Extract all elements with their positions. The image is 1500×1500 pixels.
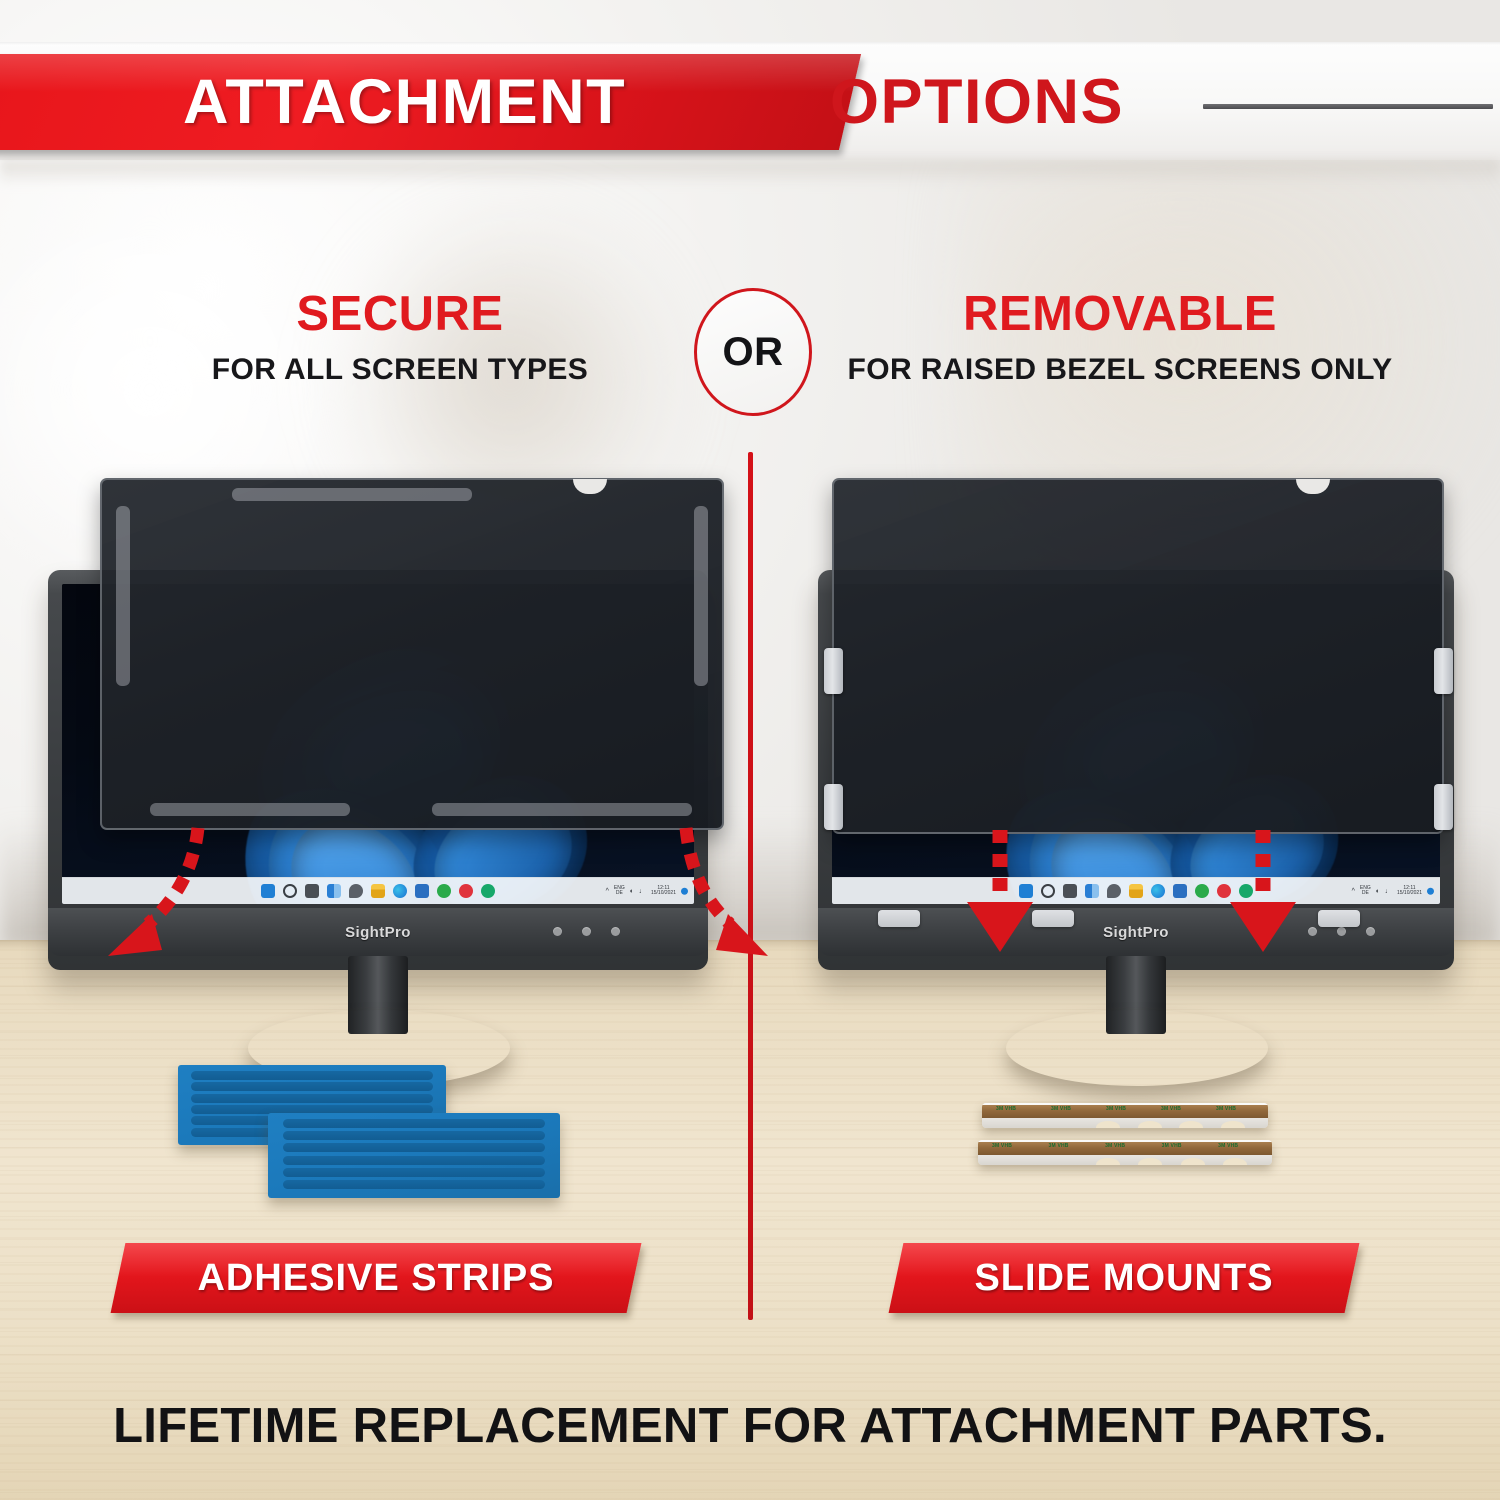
- adhesive-strip: [191, 1071, 432, 1080]
- file-explorer-icon[interactable]: [1129, 884, 1143, 898]
- tray-language-indicator-r[interactable]: ENG DE: [1360, 886, 1371, 897]
- mount-notch: [1138, 1158, 1162, 1165]
- mount-tape-label: 3M VHB: [1051, 1106, 1071, 1112]
- right-heading-title: REMOVABLE: [770, 290, 1470, 339]
- monitor-button-1-r[interactable]: [1308, 927, 1317, 936]
- mount-notch: [1223, 1158, 1247, 1165]
- filter-side-tab-right: [694, 506, 708, 686]
- green-app-icon[interactable]: [1195, 884, 1209, 898]
- header-title-attachment: ATTACHMENT: [183, 60, 823, 144]
- mount-notch: [1138, 1121, 1162, 1128]
- right-monitor-buttons[interactable]: [1308, 927, 1375, 936]
- right-banner-label: SLIDE MOUNTS: [896, 1243, 1352, 1313]
- slide-mount-strip-bottom[interactable]: 3M VHB3M VHB3M VHB3M VHB3M VHB: [978, 1140, 1272, 1165]
- mount-adhesive-tape: 3M VHB3M VHB3M VHB3M VHB3M VHB: [978, 1142, 1272, 1155]
- tray-notification-icon-r[interactable]: [1427, 888, 1434, 895]
- right-heading-block: REMOVABLE FOR RAISED BEZEL SCREENS ONLY: [770, 290, 1470, 385]
- adhesive-strip: [283, 1143, 546, 1152]
- adhesive-strip: [283, 1168, 546, 1177]
- left-banner-label: ADHESIVE STRIPS: [118, 1243, 634, 1313]
- store-icon[interactable]: [1173, 884, 1187, 898]
- filter-bottom-tab-left: [150, 803, 350, 816]
- slide-mount-clip-top-left[interactable]: [824, 648, 843, 694]
- task-view-icon[interactable]: [1063, 884, 1077, 898]
- mount-adhesive-tape: 3M VHB3M VHB3M VHB3M VHB3M VHB: [982, 1105, 1268, 1118]
- mount-tape-label: 3M VHB: [1105, 1143, 1125, 1149]
- left-privacy-filter-panel[interactable]: [100, 478, 724, 830]
- filter-webcam-notch: [573, 479, 607, 494]
- filter-bottom-tab-right: [432, 803, 692, 816]
- widgets-icon[interactable]: [327, 884, 341, 898]
- adhesive-strip: [191, 1082, 432, 1091]
- right-arrow-down-left: [955, 826, 1045, 956]
- mount-tape-label: 3M VHB: [1162, 1143, 1182, 1149]
- footer-text: LIFETIME REPLACEMENT FOR ATTACHMENT PART…: [0, 1398, 1500, 1454]
- adhesive-strip: [283, 1156, 546, 1165]
- left-heading-subtitle: FOR ALL SCREEN TYPES: [60, 355, 740, 385]
- slide-mount-clip-bottom-right[interactable]: [1434, 784, 1453, 830]
- mount-tape-label: 3M VHB: [1218, 1143, 1238, 1149]
- monitor-button-3-r[interactable]: [1366, 927, 1375, 936]
- mount-notch: [1096, 1158, 1120, 1165]
- task-view-icon[interactable]: [305, 884, 319, 898]
- infographic-canvas: ATTACHMENT OPTIONS SECURE FOR ALL SCREEN…: [0, 0, 1500, 1500]
- right-taskbar[interactable]: ^ ENG DE ◐ ♩ 12:11 15/10/2021: [832, 877, 1440, 904]
- green-app-icon[interactable]: [437, 884, 451, 898]
- mount-tape-label: 3M VHB: [1049, 1143, 1069, 1149]
- store-icon[interactable]: [415, 884, 429, 898]
- tray-network-icon-r[interactable]: ◐: [1376, 887, 1380, 894]
- left-heading-title: SECURE: [60, 290, 740, 339]
- teal-app-icon[interactable]: [481, 884, 495, 898]
- chat-icon[interactable]: [1107, 884, 1121, 898]
- left-arrow-down-left: [90, 820, 290, 980]
- header-rule: [1203, 104, 1493, 109]
- mount-notch: [1179, 1121, 1203, 1128]
- right-monitor-stand-base: [1006, 1010, 1268, 1086]
- filter-webcam-notch-r: [1296, 479, 1330, 494]
- monitor-button-1[interactable]: [553, 927, 562, 936]
- adhesive-strip: [283, 1180, 546, 1189]
- file-explorer-icon[interactable]: [371, 884, 385, 898]
- tray-volume-icon-r[interactable]: ♩: [1385, 887, 1392, 894]
- tray-chevron-icon-r[interactable]: ^: [1352, 887, 1355, 894]
- widgets-icon[interactable]: [1085, 884, 1099, 898]
- right-heading-subtitle: FOR RAISED BEZEL SCREENS ONLY: [770, 355, 1470, 385]
- right-system-tray[interactable]: ^ ENG DE ◐ ♩ 12:11 15/10/2021: [1352, 886, 1434, 897]
- header-bottom-shadow: [0, 160, 1500, 186]
- edge-icon[interactable]: [1151, 884, 1165, 898]
- monitor-button-2-r[interactable]: [1337, 927, 1346, 936]
- mount-notch: [1221, 1121, 1245, 1128]
- slide-mount-clip-chin-left[interactable]: [878, 910, 920, 927]
- header-title-options: OPTIONS: [830, 60, 1124, 144]
- mount-tape-label: 3M VHB: [992, 1143, 1012, 1149]
- mount-notch: [1181, 1158, 1205, 1165]
- slide-mount-clip-top-right[interactable]: [1434, 648, 1453, 694]
- header-top-shadow: [0, 42, 1500, 45]
- mount-tape-label: 3M VHB: [1216, 1106, 1236, 1112]
- left-taskbar-icons[interactable]: [261, 884, 495, 898]
- chat-icon[interactable]: [349, 884, 363, 898]
- red-app-icon[interactable]: [459, 884, 473, 898]
- edge-icon[interactable]: [393, 884, 407, 898]
- adhesive-strip-sheet-front[interactable]: [268, 1113, 560, 1198]
- slide-mount-clip-chin-right[interactable]: [1318, 910, 1360, 927]
- slide-mount-clip-bottom-left[interactable]: [824, 784, 843, 830]
- tray-layout-r: DE: [1362, 890, 1369, 896]
- mount-tape-label: 3M VHB: [1106, 1106, 1126, 1112]
- filter-top-tab: [232, 488, 472, 501]
- tray-date-r: 15/10/2021: [1397, 890, 1422, 896]
- tray-clock-r[interactable]: 12:11 15/10/2021: [1397, 886, 1422, 897]
- left-arrow-down-right: [590, 820, 790, 980]
- right-arrow-down-right: [1218, 826, 1308, 956]
- mount-tape-label: 3M VHB: [996, 1106, 1016, 1112]
- slide-mount-strip-top[interactable]: 3M VHB3M VHB3M VHB3M VHB3M VHB: [982, 1103, 1268, 1128]
- mount-notch: [1096, 1121, 1120, 1128]
- left-heading-block: SECURE FOR ALL SCREEN TYPES: [60, 290, 740, 385]
- right-privacy-filter-panel[interactable]: [832, 478, 1444, 834]
- adhesive-strip: [283, 1131, 546, 1140]
- adhesive-strip: [191, 1094, 432, 1103]
- or-badge: OR: [694, 288, 812, 416]
- left-monitor-brand: SightPro: [345, 924, 411, 941]
- filter-side-tab-left: [116, 506, 130, 686]
- adhesive-strip: [283, 1119, 546, 1128]
- right-monitor-brand: SightPro: [1103, 924, 1169, 941]
- mount-tape-label: 3M VHB: [1161, 1106, 1181, 1112]
